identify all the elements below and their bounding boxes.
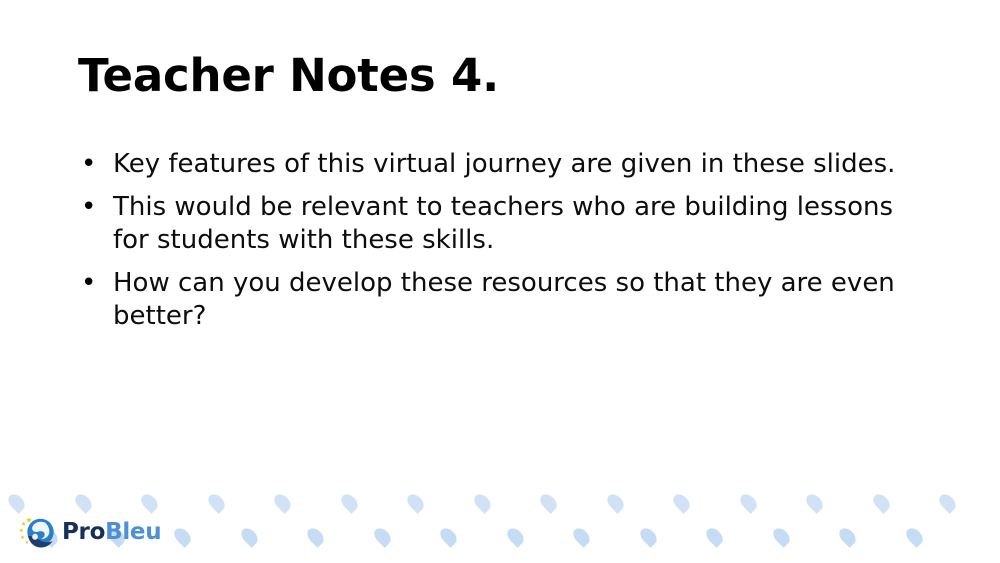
list-item: • How can you develop these resources so…	[78, 267, 938, 333]
droplet-icon	[138, 491, 161, 514]
droplet-icon	[72, 491, 95, 514]
droplet-icon	[371, 525, 394, 548]
bullet-marker-icon: •	[78, 267, 113, 300]
droplet-icon	[670, 491, 693, 514]
globe-swirl-icon	[18, 513, 56, 551]
slide-canvas: Teacher Notes 4. • Key features of this …	[0, 0, 1000, 563]
logo-word-bleu: Bleu	[105, 519, 161, 545]
droplet-icon	[271, 491, 294, 514]
droplet-icon	[338, 491, 361, 514]
droplet-icon	[737, 491, 760, 514]
page-title: Teacher Notes 4.	[78, 50, 499, 102]
droplet-icon	[304, 525, 327, 548]
list-item: • This would be relevant to teachers who…	[78, 191, 938, 257]
droplet-icon	[936, 491, 959, 514]
bullet-list: • Key features of this virtual journey a…	[78, 148, 938, 343]
bullet-text: This would be relevant to teachers who a…	[113, 191, 913, 257]
droplet-icon	[903, 525, 926, 548]
logo-wordmark: ProBleu	[62, 521, 161, 544]
droplet-icon	[637, 525, 660, 548]
droplet-icon	[437, 525, 460, 548]
bullet-marker-icon: •	[78, 148, 113, 181]
droplet-icon	[205, 491, 228, 514]
droplet-icon	[604, 491, 627, 514]
bullet-text: How can you develop these resources so t…	[113, 267, 913, 333]
bullet-marker-icon: •	[78, 191, 113, 224]
list-item: • Key features of this virtual journey a…	[78, 148, 938, 181]
problem-logo: ProBleu	[18, 512, 161, 552]
droplet-icon	[238, 525, 261, 548]
droplet-icon	[471, 491, 494, 514]
droplet-icon	[537, 491, 560, 514]
bullet-text: Key features of this virtual journey are…	[113, 148, 913, 181]
droplet-icon	[770, 525, 793, 548]
droplet-icon	[703, 525, 726, 548]
droplet-icon	[171, 525, 194, 548]
droplet-icon	[5, 491, 28, 514]
logo-word-pro: Pro	[62, 519, 105, 545]
droplet-icon	[836, 525, 859, 548]
droplet-icon	[404, 491, 427, 514]
droplet-icon	[570, 525, 593, 548]
droplet-icon	[803, 491, 826, 514]
droplet-icon	[870, 491, 893, 514]
droplet-icon	[504, 525, 527, 548]
